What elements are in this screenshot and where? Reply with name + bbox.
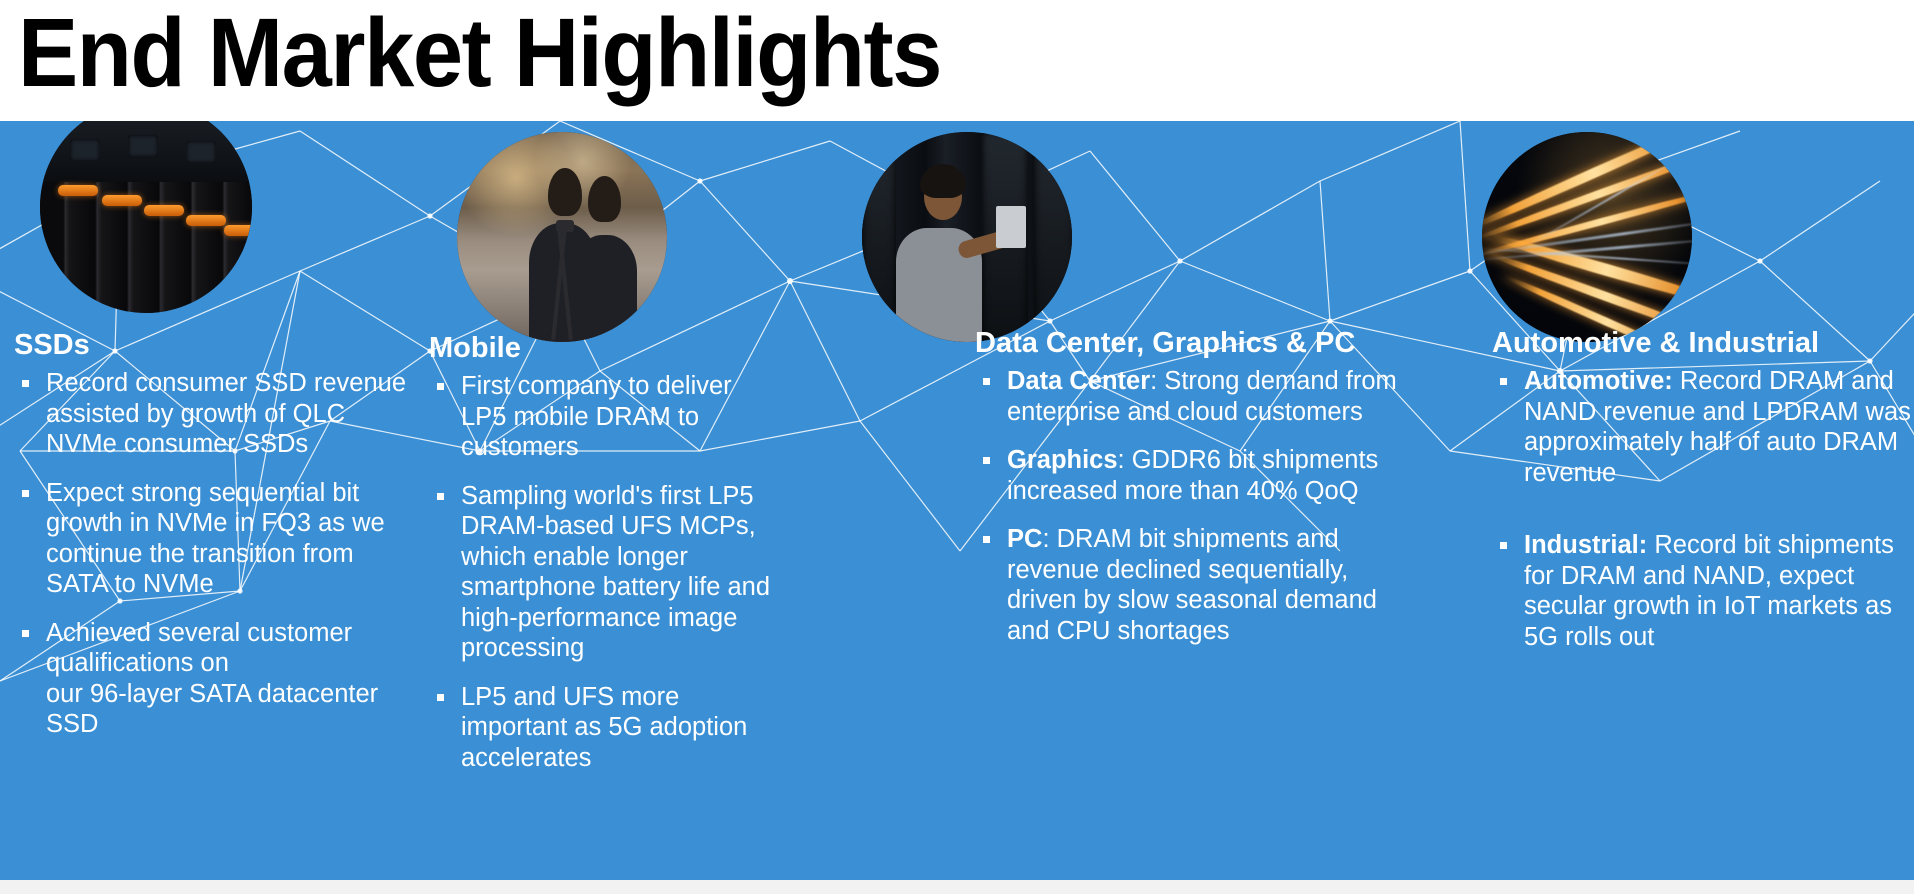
column-ssds: SSDs Record consumer SSD revenue assiste…: [14, 328, 414, 758]
column-heading: Automotive & Industrial: [1492, 326, 1914, 360]
list-item: Graphics: GDDR6 bit shipments increased …: [975, 445, 1415, 506]
bullet-lead-label: Graphics: [1007, 446, 1118, 474]
list-item: PC: DRAM bit shipments and revenue decli…: [975, 524, 1415, 646]
bullet-text: Expect strong sequential bit growth in N…: [46, 479, 385, 599]
automotive-photo-circle: [1482, 132, 1692, 342]
column-mobile: Mobile First company to deliver LP5 mobi…: [429, 331, 774, 791]
bullet-marker-icon: [437, 694, 444, 701]
list-item: First company to deliver LP5 mobile DRAM…: [429, 371, 774, 463]
list-item: Expect strong sequential bit growth in N…: [14, 478, 414, 600]
list-item: Sampling world's first LP5 DRAM-based UF…: [429, 481, 774, 664]
column-heading: Data Center, Graphics & PC: [975, 326, 1415, 360]
column-data-center-graphics-pc: Data Center, Graphics & PC Data Center: …: [975, 326, 1415, 664]
list-item: Industrial: Record bit shipments for DRA…: [1492, 530, 1914, 652]
bullet-text: Record consumer SSD revenue assisted by …: [46, 369, 406, 458]
page-title: End Market Highlights: [18, 0, 941, 112]
ssds-photo-circle: [40, 121, 252, 313]
bullet-list: Record consumer SSD revenue assisted by …: [14, 368, 414, 740]
bullet-lead-label: Data Center: [1007, 367, 1150, 395]
bullet-marker-icon: [22, 380, 29, 387]
bullet-lead-label: Industrial:: [1524, 531, 1647, 559]
slide-canvas: End Market Highlights: [0, 0, 1914, 894]
bullet-marker-icon: [1500, 378, 1507, 385]
bullet-lead-label: PC: [1007, 525, 1042, 553]
bullet-marker-icon: [437, 383, 444, 390]
bullet-list: Data Center: Strong demand from enterpri…: [975, 366, 1415, 646]
bottom-strip: [0, 880, 1914, 894]
mobile-photo-circle: [457, 132, 667, 342]
bullet-marker-icon: [983, 536, 990, 543]
bullet-text: First company to deliver LP5 mobile DRAM…: [461, 372, 732, 461]
slide-header: End Market Highlights: [0, 0, 1914, 121]
list-item: Record consumer SSD revenue assisted by …: [14, 368, 414, 460]
list-item: Data Center: Strong demand from enterpri…: [975, 366, 1415, 427]
column-heading: Mobile: [429, 331, 774, 365]
list-item: Automotive: Record DRAM and NAND revenue…: [1492, 366, 1914, 488]
data-center-photo-circle: [862, 132, 1072, 342]
bullet-text: Sampling world's first LP5 DRAM-based UF…: [461, 482, 770, 663]
bullet-list: First company to deliver LP5 mobile DRAM…: [429, 371, 774, 773]
bullet-marker-icon: [1500, 542, 1507, 549]
bullet-marker-icon: [22, 490, 29, 497]
bullet-text: : DRAM bit shipments and revenue decline…: [1007, 525, 1377, 645]
bullet-marker-icon: [983, 378, 990, 385]
list-item: Achieved several customer qualifications…: [14, 618, 414, 740]
bullet-list: Automotive: Record DRAM and NAND revenue…: [1492, 366, 1914, 652]
bullet-text: LP5 and UFS more important as 5G adoptio…: [461, 683, 747, 772]
content-panel: SSDs Record consumer SSD revenue assiste…: [0, 121, 1914, 880]
bullet-marker-icon: [437, 493, 444, 500]
bullet-marker-icon: [983, 457, 990, 464]
list-item: LP5 and UFS more important as 5G adoptio…: [429, 682, 774, 774]
column-automotive-industrial: Automotive & Industrial Automotive: Reco…: [1492, 326, 1914, 670]
bullet-lead-label: Automotive:: [1524, 367, 1673, 395]
bullet-marker-icon: [22, 630, 29, 637]
column-heading: SSDs: [14, 328, 414, 362]
bullet-text: Achieved several customer qualifications…: [46, 619, 378, 739]
